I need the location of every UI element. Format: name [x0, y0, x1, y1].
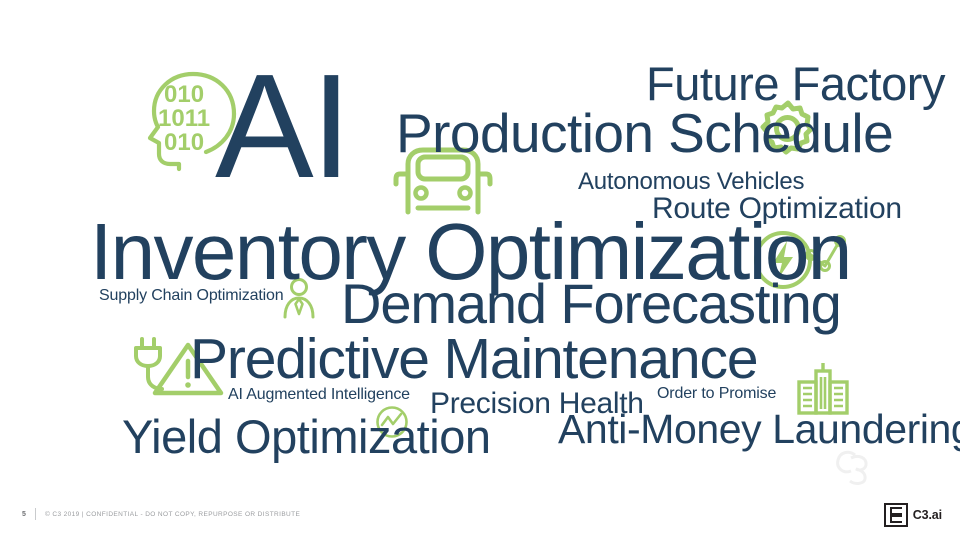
c3ai-logo-wordmark: C3.ai: [913, 508, 942, 522]
term-production-schedule: Production Schedule: [396, 106, 893, 161]
c3-watermark-icon: [833, 448, 875, 486]
term-autonomous-vehicles: Autonomous Vehicles: [578, 170, 804, 194]
term-future-factory: Future Factory: [646, 60, 945, 107]
slide-canvas: 010 1011 010: [0, 0, 960, 539]
term-demand-forecasting: Demand Forecasting: [341, 276, 841, 332]
c3ai-logo-mark: [884, 503, 908, 527]
term-yield-optimization: Yield Optimization: [122, 413, 491, 460]
term-ai-augmented-intelligence: AI Augmented Intelligence: [228, 387, 410, 403]
footer-page-number: 5: [22, 511, 26, 518]
term-anti-money-laundering: Anti-Money Laundering: [558, 409, 960, 450]
footer-copyright: © C3 2019 | CONFIDENTIAL - DO NOT COPY, …: [45, 511, 300, 518]
c3ai-logo: C3.ai: [884, 503, 942, 527]
term-supply-chain-optimization: Supply Chain Optimization: [99, 288, 284, 304]
term-ai: AI: [215, 53, 349, 201]
term-predictive-maintenance: Predictive Maintenance: [190, 331, 757, 388]
term-order-to-promise: Order to Promise: [657, 386, 776, 402]
binary-line-1: 010: [164, 81, 204, 108]
slide-footer: 5 © C3 2019 | CONFIDENTIAL - DO NOT COPY…: [0, 495, 960, 539]
footer-divider: [35, 508, 36, 520]
binary-line-3: 010: [164, 129, 204, 156]
binary-line-2: 1011: [158, 105, 210, 132]
